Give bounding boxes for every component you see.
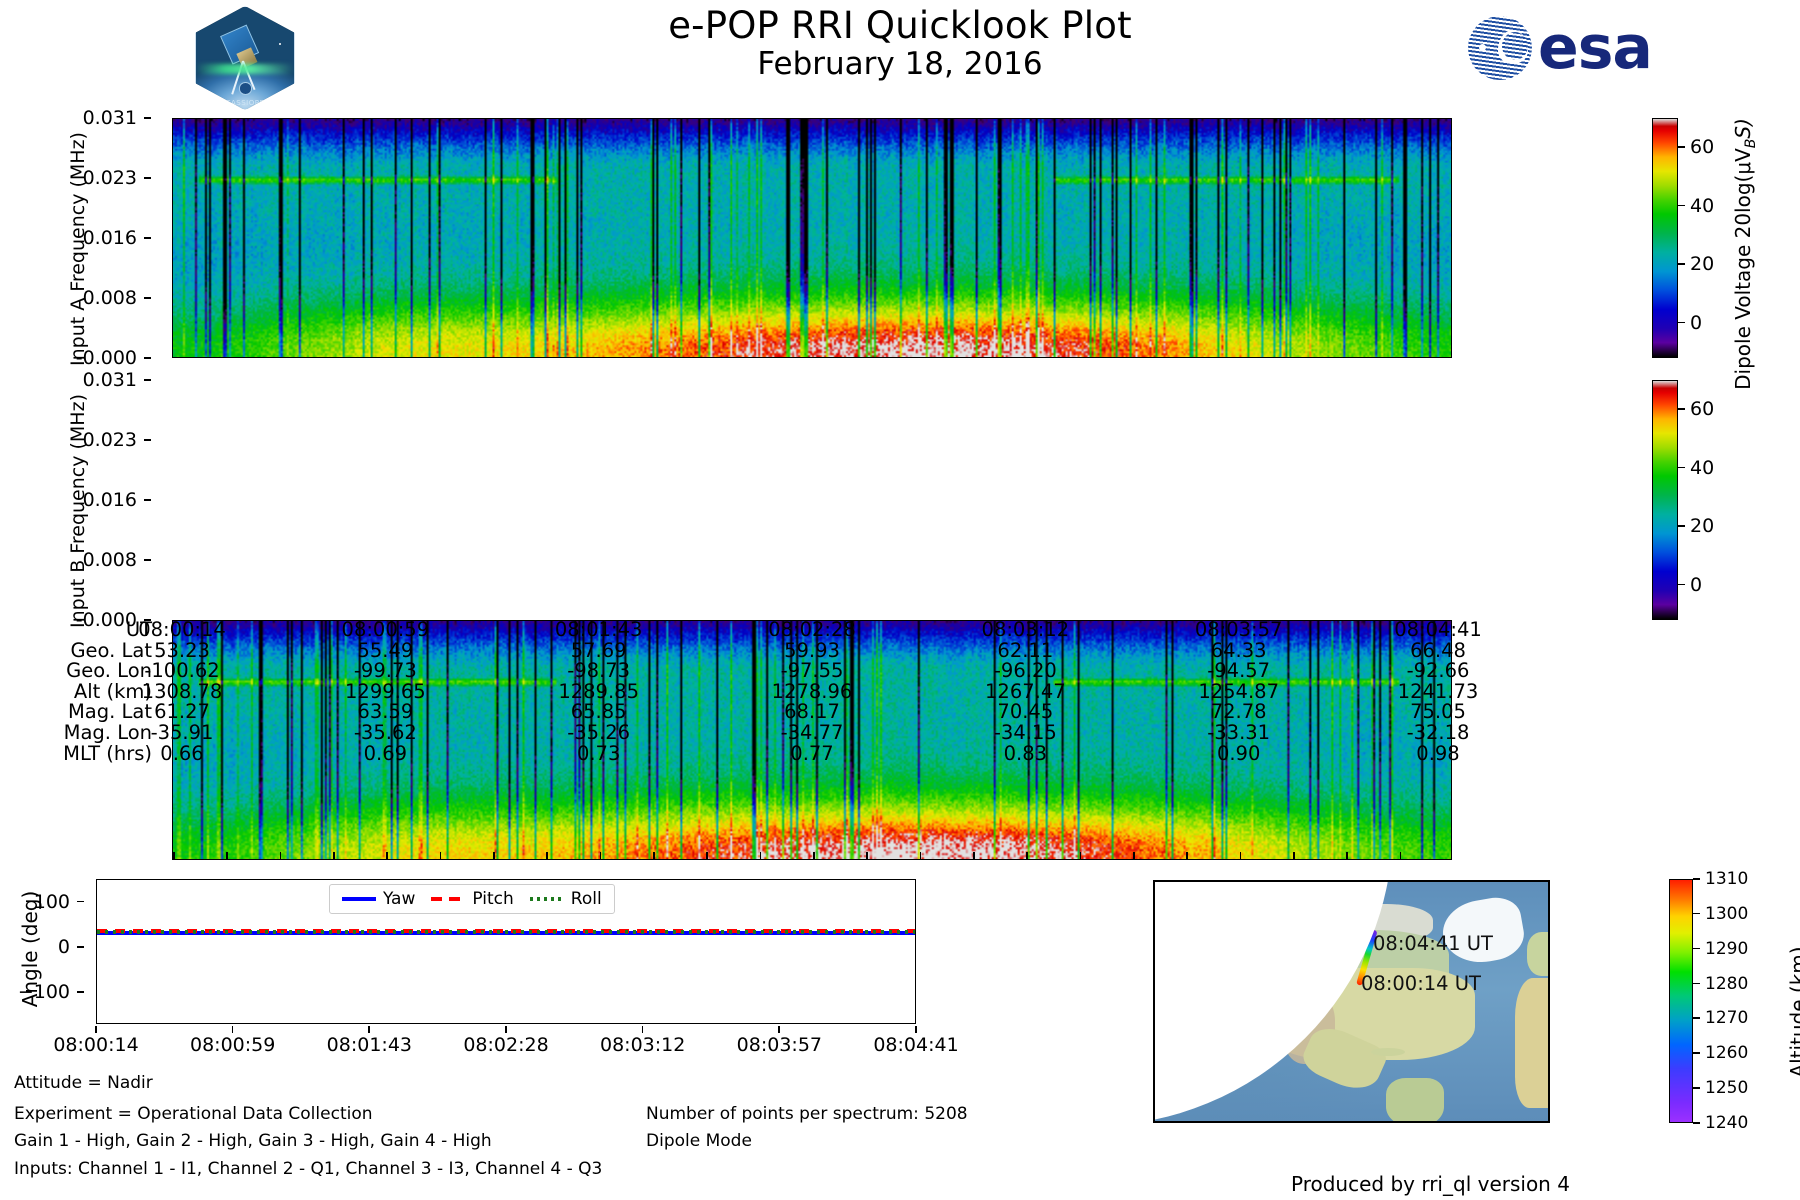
- y-tick-mark: [144, 439, 151, 441]
- footer-mode: Dipole Mode: [646, 1131, 752, 1151]
- table-row: Mag. Lon-35.91-35.62-35.26-34.77-34.15-3…: [0, 721, 1500, 742]
- colorbar-tick-mark: [1678, 322, 1685, 324]
- table-cell: 65.85: [571, 700, 627, 723]
- table-cell: -33.31: [1207, 721, 1270, 744]
- colorbar-tick-mark: [1678, 146, 1685, 148]
- altitude-tick-label: 1310: [1705, 869, 1748, 889]
- colorbar-tick-label: 20: [1690, 515, 1714, 537]
- footer-gain: Gain 1 - High, Gain 2 - High, Gain 3 - H…: [14, 1131, 492, 1151]
- y-tick-label: 0.016: [83, 489, 137, 511]
- altitude-tick-label: 1260: [1705, 1043, 1748, 1063]
- map-africa-europe: [1515, 978, 1550, 1108]
- table-cell: 1254.87: [1198, 680, 1279, 703]
- voltage-colorbar-b-ticks: 6040200: [1652, 380, 1772, 620]
- colorbar-tick-mark: [1678, 408, 1685, 410]
- table-cell: 66.48: [1410, 639, 1466, 662]
- table-cell: -97.55: [781, 659, 844, 682]
- altitude-tick-mark: [1693, 878, 1700, 880]
- attitude-series-roll: [97, 930, 915, 934]
- y-tick-mark: [144, 177, 151, 179]
- table-cell: 0.77: [790, 742, 833, 765]
- legend-label: Yaw: [383, 889, 415, 909]
- legend-item-yaw[interactable]: Yaw: [342, 889, 415, 909]
- table-cell: 0.98: [1416, 742, 1459, 765]
- altitude-tick-mark: [1693, 913, 1700, 915]
- attitude-x-tick-mark: [505, 1026, 507, 1033]
- table-row-label: UT: [22, 618, 152, 641]
- colorbar-tick-label: 20: [1690, 253, 1714, 275]
- legend-item-roll[interactable]: Roll: [530, 889, 602, 909]
- table-cell: 0.90: [1217, 742, 1260, 765]
- colorbar-tick-label: 0: [1690, 574, 1702, 596]
- x-tick-mark: [973, 852, 975, 859]
- colorbar-tick-label: 60: [1690, 136, 1714, 158]
- colorbar-tick-label: 40: [1690, 195, 1714, 217]
- x-tick-mark: [386, 852, 388, 859]
- x-tick-mark: [546, 852, 548, 859]
- table-cell: 1299.65: [345, 680, 426, 703]
- table-cell: 08:03:12: [982, 618, 1070, 641]
- attitude-y-tick-mark: [77, 946, 84, 948]
- table-cell: -92.66: [1407, 659, 1470, 682]
- footer-experiment: Experiment = Operational Data Collection: [14, 1104, 373, 1124]
- table-cell: -96.20: [994, 659, 1057, 682]
- map-europe: [1527, 932, 1550, 976]
- cassiope-logo-icon: CASSIOPE: [195, 6, 295, 110]
- x-tick-mark: [920, 852, 922, 859]
- altitude-colorbar-ticks: 13101300129012801270126012501240: [1669, 879, 1799, 1123]
- table-cell: -100.62: [144, 659, 219, 682]
- table-row: Geo. Lat53.2355.4957.6959.9362.1164.3366…: [0, 639, 1500, 660]
- attitude-x-tick-mark: [778, 1026, 780, 1033]
- x-tick-mark: [440, 852, 442, 859]
- y-tick-label: 0.023: [83, 167, 137, 189]
- footer-attitude: Attitude = Nadir: [14, 1073, 153, 1093]
- attitude-x-tick-label: 08:00:59: [190, 1034, 275, 1056]
- table-row: MLT (hrs)0.660.690.730.770.830.900.98: [0, 742, 1500, 763]
- y-tick-mark: [144, 379, 151, 381]
- y-tick-mark: [144, 237, 151, 239]
- map-south-america: [1386, 1078, 1444, 1123]
- altitude-colorbar-label: Altitude (km): [1786, 862, 1800, 1162]
- x-tick-mark: [280, 852, 282, 859]
- altitude-tick-label: 1250: [1705, 1078, 1748, 1098]
- y-tick-label: 0.031: [83, 369, 137, 391]
- table-row: Geo. Lon-100.62-99.73-98.73-97.55-96.20-…: [0, 659, 1500, 680]
- x-tick-mark: [600, 852, 602, 859]
- x-tick-mark: [493, 852, 495, 859]
- x-tick-mark: [813, 852, 815, 859]
- x-tick-mark: [226, 852, 228, 859]
- table-cell: 70.45: [997, 700, 1053, 723]
- spectrogram-a-image: [173, 119, 1451, 357]
- table-cell: -35.91: [151, 721, 214, 744]
- table-cell: 08:00:14: [138, 618, 226, 641]
- y-tick-mark: [144, 297, 151, 299]
- x-tick-mark: [1080, 852, 1082, 859]
- table-cell: 0.69: [364, 742, 407, 765]
- y-tick-mark: [144, 499, 151, 501]
- altitude-tick-label: 1280: [1705, 974, 1748, 994]
- x-tick-mark: [1293, 852, 1295, 859]
- y-tick-label: 0.031: [83, 107, 137, 129]
- legend-swatch-yaw-icon: [342, 897, 376, 901]
- legend-label: Pitch: [472, 889, 513, 909]
- table-cell: 08:03:57: [1195, 618, 1283, 641]
- x-tick-mark: [1186, 852, 1188, 859]
- table-cell: 53.23: [154, 639, 210, 662]
- attitude-yaxis: 1000−100: [0, 879, 90, 1024]
- voltage-colorbar-label: Dipole Voltage 20log(μVBS): [1731, 104, 1759, 404]
- table-row: UT08:00:1408:00:5908:01:4308:02:2808:03:…: [0, 618, 1500, 639]
- x-tick-mark: [866, 852, 868, 859]
- colorbar-tick-label: 60: [1690, 398, 1714, 420]
- footer-points: Number of points per spectrum: 5208: [646, 1104, 968, 1124]
- x-tick-mark: [760, 852, 762, 859]
- x-tick-mark: [1346, 852, 1348, 859]
- attitude-x-tick-mark: [368, 1026, 370, 1033]
- table-cell: 59.93: [784, 639, 840, 662]
- table-row-label: Geo. Lon: [22, 659, 152, 682]
- altitude-tick-label: 1270: [1705, 1008, 1748, 1028]
- y-tick-label: 0.016: [83, 227, 137, 249]
- table-cell: -98.73: [567, 659, 630, 682]
- altitude-tick-mark: [1693, 1122, 1700, 1124]
- table-cell: 1278.96: [772, 680, 853, 703]
- attitude-y-tick-mark: [77, 901, 84, 903]
- table-cell: 0.83: [1004, 742, 1047, 765]
- attitude-legend[interactable]: YawPitchRoll: [329, 884, 615, 914]
- spectrogram-a-yaxis: 0.0310.0230.0160.008-0.000: [46, 118, 151, 358]
- table-cell: 08:00:59: [342, 618, 430, 641]
- table-cell: -34.15: [994, 721, 1057, 744]
- table-cell: 1289.85: [558, 680, 639, 703]
- cassiope-logo-label: CASSIOPE: [196, 99, 294, 107]
- table-cell: 08:01:43: [555, 618, 643, 641]
- y-tick-mark: [144, 357, 151, 359]
- table-cell: 08:02:28: [768, 618, 856, 641]
- colorbar-tick-label: 40: [1690, 457, 1714, 479]
- attitude-x-tick-label: 08:04:41: [873, 1034, 958, 1056]
- attitude-x-tick-mark: [95, 1026, 97, 1033]
- attitude-x-tick-label: 08:03:12: [600, 1034, 685, 1056]
- attitude-x-tick-label: 08:01:43: [327, 1034, 412, 1056]
- table-cell: 68.17: [784, 700, 840, 723]
- y-tick-label: 0.008: [83, 549, 137, 571]
- table-cell: 55.49: [357, 639, 413, 662]
- table-row-label: MLT (hrs): [22, 742, 152, 765]
- x-tick-mark: [1240, 852, 1242, 859]
- table-cell: 0.66: [160, 742, 203, 765]
- table-cell: -35.26: [567, 721, 630, 744]
- table-cell: 63.59: [357, 700, 413, 723]
- table-cell: 0.73: [577, 742, 620, 765]
- footer-inputs: Inputs: Channel 1 - I1, Channel 2 - Q1, …: [14, 1159, 602, 1179]
- table-row-label: Geo. Lat: [22, 639, 152, 662]
- colorbar-tick-label: 0: [1690, 312, 1702, 334]
- y-tick-mark: [144, 559, 151, 561]
- legend-item-pitch[interactable]: Pitch: [431, 889, 513, 909]
- attitude-x-tick-mark: [915, 1026, 917, 1033]
- table-cell: 61.27: [154, 700, 210, 723]
- table-cell: -94.57: [1207, 659, 1270, 682]
- altitude-tick-mark: [1693, 1052, 1700, 1054]
- attitude-y-tick-mark: [77, 991, 84, 993]
- x-tick-mark: [706, 852, 708, 859]
- x-tick-mark: [333, 852, 335, 859]
- table-cell: 57.69: [571, 639, 627, 662]
- altitude-tick-mark: [1693, 983, 1700, 985]
- attitude-y-tick-label: 100: [34, 891, 70, 913]
- table-cell: -99.73: [354, 659, 417, 682]
- attitude-x-tick-label: 08:00:14: [53, 1034, 138, 1056]
- spectrogram-b-yaxis: 0.0310.0230.0160.008-0.000: [46, 380, 151, 620]
- altitude-tick-label: 1290: [1705, 939, 1748, 959]
- attitude-x-tick-label: 08:02:28: [463, 1034, 548, 1056]
- colorbar-tick-mark: [1678, 205, 1685, 207]
- table-cell: 1241.73: [1398, 680, 1479, 703]
- legend-label: Roll: [571, 889, 602, 909]
- colorbar-tick-mark: [1678, 263, 1685, 265]
- map-label-start: 08:00:14 UT: [1361, 972, 1481, 995]
- table-row-label: Mag. Lat: [22, 700, 152, 723]
- table-row-label: Alt (km): [22, 680, 152, 703]
- legend-swatch-roll-icon: [530, 897, 564, 901]
- altitude-tick-mark: [1693, 948, 1700, 950]
- y-tick-label: 0.008: [83, 287, 137, 309]
- altitude-tick-mark: [1693, 1017, 1700, 1019]
- y-tick-mark: [144, 117, 151, 119]
- table-cell: 1308.78: [142, 680, 223, 703]
- attitude-y-tick-label: 0: [58, 936, 70, 958]
- x-tick-mark: [653, 852, 655, 859]
- altitude-tick-mark: [1693, 1087, 1700, 1089]
- table-cell: 64.33: [1211, 639, 1267, 662]
- y-tick-label: 0.023: [83, 429, 137, 451]
- table-cell: -34.77: [781, 721, 844, 744]
- attitude-y-tick-label: −100: [18, 981, 70, 1003]
- attitude-x-tick-label: 08:03:57: [737, 1034, 822, 1056]
- table-row: Alt (km)1308.781299.651289.851278.961267…: [0, 680, 1500, 701]
- table-row-label: Mag. Lon: [22, 721, 152, 744]
- table-cell: 08:04:41: [1394, 618, 1482, 641]
- spectrogram-a-plot: [172, 118, 1452, 358]
- map-label-end: 08:04:41 UT: [1373, 932, 1493, 955]
- attitude-x-tick-mark: [232, 1026, 234, 1033]
- table-cell: 75.05: [1410, 700, 1466, 723]
- attitude-xaxis: 08:00:1408:00:5908:01:4308:02:2808:03:12…: [0, 1026, 1000, 1066]
- colorbar-tick-mark: [1678, 467, 1685, 469]
- colorbar-tick-mark: [1678, 525, 1685, 527]
- map-caribbean: [1371, 1048, 1405, 1056]
- ephemeris-table: UT08:00:1408:00:5908:01:4308:02:2808:03:…: [0, 618, 1500, 762]
- table-cell: 1267.47: [985, 680, 1066, 703]
- x-tick-mark: [1133, 852, 1135, 859]
- x-tick-mark: [1026, 852, 1028, 859]
- altitude-tick-label: 1300: [1705, 904, 1748, 924]
- table-row: Mag. Lat61.2763.5965.8568.1770.4572.7875…: [0, 700, 1500, 721]
- ground-track-map: 08:04:41 UT 08:00:14 UT: [1153, 880, 1550, 1123]
- footer-produced-by: Produced by rri_ql version 4: [1291, 1172, 1570, 1196]
- x-tick-mark: [1400, 852, 1402, 859]
- colorbar-tick-mark: [1678, 584, 1685, 586]
- esa-logo-icon: esa: [1468, 14, 1693, 84]
- table-cell: -32.18: [1407, 721, 1470, 744]
- table-cell: -35.62: [354, 721, 417, 744]
- esa-logo-text: esa: [1538, 18, 1652, 78]
- legend-swatch-pitch-icon: [431, 897, 465, 901]
- table-cell: 72.78: [1211, 700, 1267, 723]
- altitude-tick-label: 1240: [1705, 1113, 1748, 1133]
- attitude-x-tick-mark: [642, 1026, 644, 1033]
- table-cell: 62.11: [997, 639, 1053, 662]
- x-tick-mark: [173, 852, 175, 859]
